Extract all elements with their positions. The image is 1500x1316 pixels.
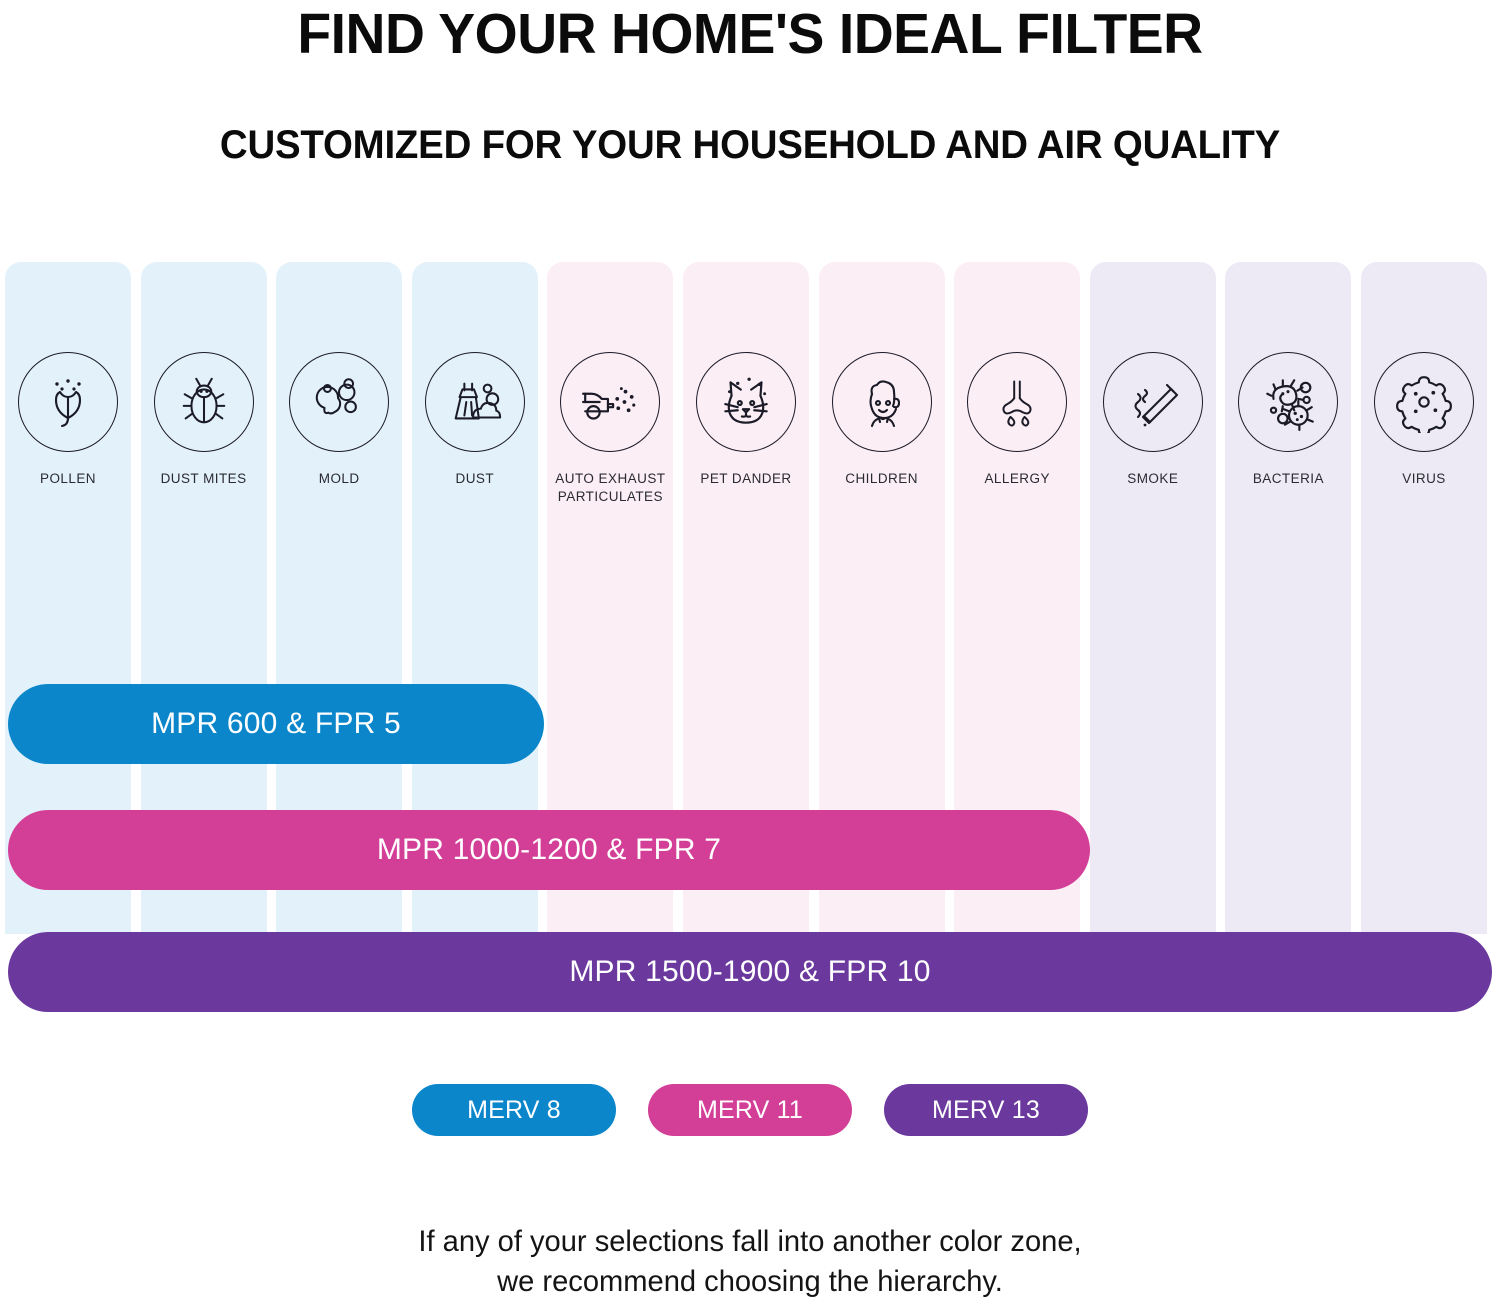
contaminant-label: SMOKE xyxy=(1090,470,1216,488)
contaminant-column-virus[interactable]: VIRUS xyxy=(1361,262,1487,934)
coverage-bar-merv13[interactable]: MPR 1500-1900 & FPR 10 xyxy=(8,932,1492,1012)
contaminant-label: CHILDREN xyxy=(819,470,945,488)
merv-pill-11[interactable]: MERV 11 xyxy=(648,1084,852,1136)
coverage-bar-merv11-label: MPR 1000-1200 & FPR 7 xyxy=(377,833,721,867)
smoke-cigarette-icon xyxy=(1103,352,1203,452)
dust-mite-bug-icon xyxy=(154,352,254,452)
page-subtitle: CUSTOMIZED FOR YOUR HOUSEHOLD AND AIR QU… xyxy=(30,125,1470,165)
pet-dander-cat-icon xyxy=(696,352,796,452)
contaminant-column-smoke[interactable]: SMOKE xyxy=(1090,262,1216,934)
contaminant-label: AUTO EXHAUST PARTICULATES xyxy=(547,470,673,506)
dust-broom-icon xyxy=(425,352,525,452)
header: FIND YOUR HOME'S IDEAL FILTER CUSTOMIZED… xyxy=(0,0,1500,165)
merv-pill-13[interactable]: MERV 13 xyxy=(884,1084,1088,1136)
contaminant-label: PET DANDER xyxy=(683,470,809,488)
merv-pill-8[interactable]: MERV 8 xyxy=(412,1084,616,1136)
auto-exhaust-car-icon xyxy=(560,352,660,452)
coverage-bar-merv13-label: MPR 1500-1900 & FPR 10 xyxy=(569,955,930,989)
virus-icon xyxy=(1374,352,1474,452)
footnote-text: If any of your selections fall into anot… xyxy=(23,1222,1478,1302)
contaminant-column-bacteria[interactable]: BACTERIA xyxy=(1225,262,1351,934)
merv-legend: MERV 8 MERV 11 MERV 13 xyxy=(0,1084,1500,1136)
bacteria-germs-icon xyxy=(1238,352,1338,452)
contaminant-label: POLLEN xyxy=(5,470,131,488)
children-face-icon xyxy=(832,352,932,452)
coverage-bar-merv8-label: MPR 600 & FPR 5 xyxy=(151,707,401,741)
contaminant-label: ALLERGY xyxy=(954,470,1080,488)
contaminant-label: DUST MITES xyxy=(141,470,267,488)
allergy-nose-icon xyxy=(967,352,1067,452)
contaminant-label: BACTERIA xyxy=(1225,470,1351,488)
merv-pill-11-label: MERV 11 xyxy=(697,1096,803,1125)
coverage-bar-merv11[interactable]: MPR 1000-1200 & FPR 7 xyxy=(8,810,1090,890)
contaminant-label: MOLD xyxy=(276,470,402,488)
merv-pill-8-label: MERV 8 xyxy=(467,1096,561,1125)
contaminant-label: VIRUS xyxy=(1361,470,1487,488)
contaminant-label: DUST xyxy=(412,470,538,488)
mold-spores-icon xyxy=(289,352,389,452)
coverage-bar-merv8[interactable]: MPR 600 & FPR 5 xyxy=(8,684,544,764)
page-title: FIND YOUR HOME'S IDEAL FILTER xyxy=(23,6,1478,63)
pollen-flower-icon xyxy=(18,352,118,452)
merv-pill-13-label: MERV 13 xyxy=(932,1096,1040,1125)
